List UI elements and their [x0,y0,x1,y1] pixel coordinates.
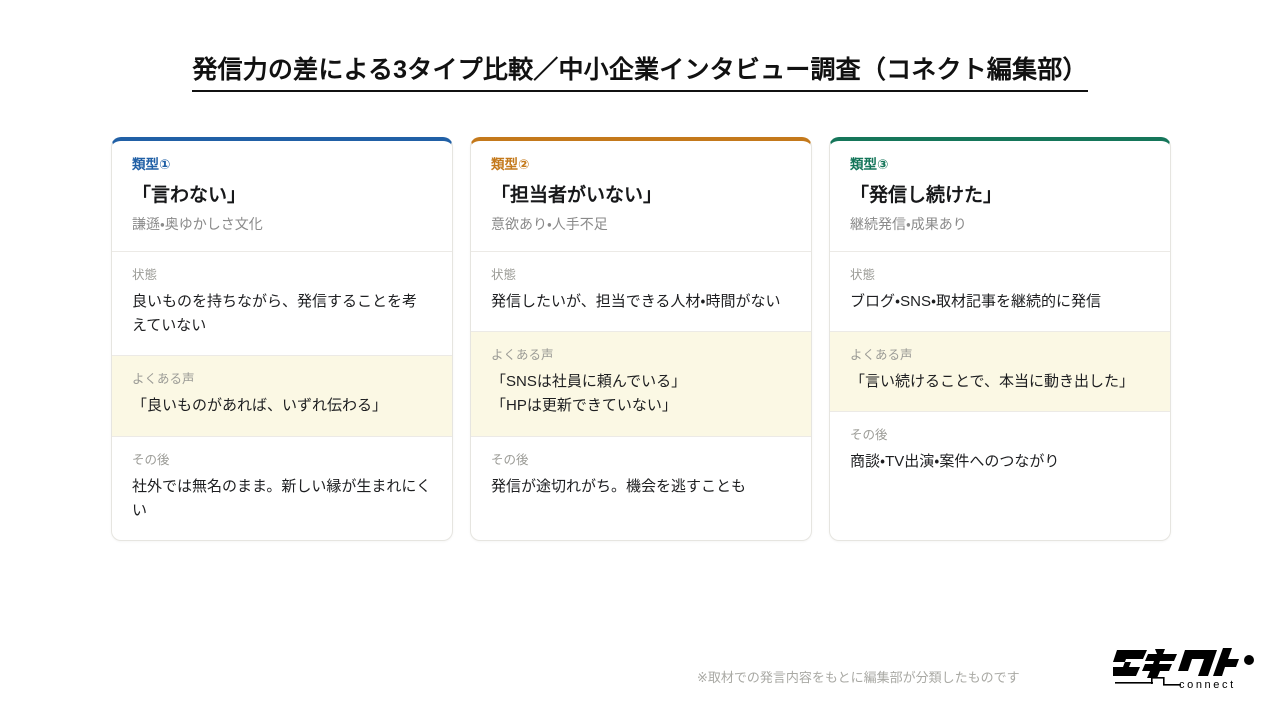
section-label-state-1: 状態 [132,268,432,283]
source-footnote: ※取材での発言内容をもとに編集部が分類したものです [697,667,1020,686]
section-label-state-2: 状態 [491,268,791,283]
type-title-3: 「発信し続けた」 [850,184,1150,208]
voice-line: 「言い続けることで、本当に動き出した」 [850,370,1150,394]
section-label-state-3: 状態 [850,268,1150,283]
type-card-2[interactable]: 類型② 「担当者がいない」 意欲あり・人手不足 状態 発信したいが、担当できる人… [470,137,812,541]
type-label-1: 類型① [132,158,432,173]
connect-logo: connect [1113,646,1261,694]
card-header-1: 類型① 「言わない」 謙遜・奥ゆかしさ文化 [112,141,452,252]
comparison-card-grid: 類型① 「言わない」 謙遜・奥ゆかしさ文化 状態 良いものを持ちながら、発信する… [111,137,1171,541]
voice-line: 「HPは更新できていない」 [491,394,791,418]
voice-line: 「SNSは社員に頼んでいる」 [491,370,791,394]
connect-wordmark-text: connect [1179,679,1236,691]
section-body-after-2: 発信が途切れがち。機会を逃すことも [491,475,791,499]
section-label-voice-2: よくある声 [491,348,791,363]
section-label-voice-3: よくある声 [850,348,1150,363]
card-section-voice-1: よくある声 「良いものがあれば、いずれ伝わる」 [112,356,452,436]
section-body-state-1: 良いものを持ちながら、発信することを考えていない [132,290,432,339]
voice-line: 「良いものがあれば、いずれ伝わる」 [132,394,432,418]
section-label-after-1: その後 [132,453,432,468]
card-header-3: 類型③ 「発信し続けた」 継続発信・成果あり [830,141,1170,252]
section-body-state-3: ブログ・SNS・取材記事を継続的に発信 [850,290,1150,314]
type-card-3[interactable]: 類型③ 「発信し続けた」 継続発信・成果あり 状態 ブログ・SNS・取材記事を継… [829,137,1171,541]
type-subtitle-2: 意欲あり・人手不足 [491,215,791,233]
section-body-voice-2: 「SNSは社員に頼んでいる」 「HPは更新できていない」 [491,370,791,419]
type-label-2: 類型② [491,158,791,173]
type-title-2: 「担当者がいない」 [491,184,791,208]
type-subtitle-3: 継続発信・成果あり [850,215,1150,233]
type-label-3: 類型③ [850,158,1150,173]
connect-logo-icon: connect [1113,646,1261,694]
type-subtitle-1: 謙遜・奥ゆかしさ文化 [132,215,432,233]
section-body-after-1: 社外では無名のまま。新しい縁が生まれにくい [132,475,432,524]
type-card-1[interactable]: 類型① 「言わない」 謙遜・奥ゆかしさ文化 状態 良いものを持ちながら、発信する… [111,137,453,541]
section-label-after-3: その後 [850,428,1150,443]
card-header-2: 類型② 「担当者がいない」 意欲あり・人手不足 [471,141,811,252]
section-body-voice-3: 「言い続けることで、本当に動き出した」 [850,370,1150,394]
card-section-voice-3: よくある声 「言い続けることで、本当に動き出した」 [830,332,1170,412]
section-body-state-2: 発信したいが、担当できる人材・時間がない [491,290,791,314]
card-section-state-3: 状態 ブログ・SNS・取材記事を継続的に発信 [830,252,1170,332]
type-title-1: 「言わない」 [132,184,432,208]
card-section-after-1: その後 社外では無名のまま。新しい縁が生まれにくい [112,437,452,541]
card-section-state-2: 状態 発信したいが、担当できる人材・時間がない [471,252,811,332]
section-body-voice-1: 「良いものがあれば、いずれ伝わる」 [132,394,432,418]
section-body-after-3: 商談・TV出演・案件へのつながり [850,450,1150,474]
card-section-after-3: その後 商談・TV出演・案件へのつながり [830,412,1170,540]
page-title-text: 発信力の差による3タイプ比較／中小企業インタビュー調査（コネクト編集部） [192,50,1087,92]
card-section-state-1: 状態 良いものを持ちながら、発信することを考えていない [112,252,452,357]
card-section-after-2: その後 発信が途切れがち。機会を逃すことも [471,437,811,541]
card-section-voice-2: よくある声 「SNSは社員に頼んでいる」 「HPは更新できていない」 [471,332,811,437]
section-label-voice-1: よくある声 [132,372,432,387]
page-title: 発信力の差による3タイプ比較／中小企業インタビュー調査（コネクト編集部） [0,50,1280,92]
section-label-after-2: その後 [491,453,791,468]
